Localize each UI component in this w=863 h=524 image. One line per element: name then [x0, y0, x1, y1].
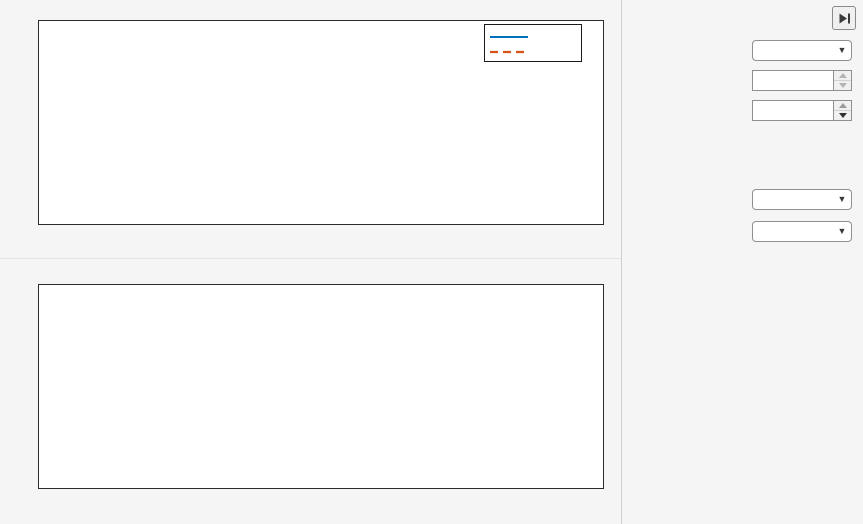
- option-row-time-steps: [623, 98, 863, 124]
- option-row-prediction-time: [623, 158, 863, 184]
- observation-increment-button[interactable]: [834, 71, 851, 81]
- prediction-viewer-app: ▼: [0, 0, 863, 524]
- option-row-response-feature: ▼: [623, 187, 863, 213]
- time-steps-input[interactable]: [752, 100, 833, 121]
- legend-row-response: [489, 28, 575, 43]
- arrow-down-icon: [839, 83, 847, 88]
- observation-decrement-button[interactable]: [834, 81, 851, 90]
- prediction-swatch: [489, 45, 529, 57]
- plots-column: [0, 0, 622, 524]
- collapse-panel-icon[interactable]: [832, 6, 856, 30]
- option-row-rmse: [623, 131, 863, 157]
- arrow-up-icon: [839, 103, 847, 108]
- legend-row-prediction: [489, 43, 575, 58]
- response-swatch: [489, 30, 529, 42]
- time-steps-decrement-button[interactable]: [834, 111, 851, 120]
- time-steps-stepper[interactable]: [752, 100, 852, 121]
- response-vs-prediction-panel: [0, 0, 621, 258]
- response-vs-prediction-menu-icon[interactable]: [566, 1, 592, 17]
- option-row-data-source: ▼: [623, 38, 863, 64]
- options-panel: ▼: [623, 0, 863, 524]
- observation-input[interactable]: [752, 70, 833, 91]
- observation-stepper-buttons: [833, 70, 852, 91]
- arrow-down-icon: [839, 113, 847, 118]
- chevron-down-icon: ▼: [833, 227, 851, 236]
- data-source-dropdown[interactable]: ▼: [752, 40, 852, 61]
- arrow-up-icon: [839, 73, 847, 78]
- time-steps-increment-button[interactable]: [834, 101, 851, 111]
- response-feature-dropdown[interactable]: ▼: [752, 189, 852, 210]
- bottom-chart-svg: [39, 285, 603, 488]
- predictor-data-panel: [0, 258, 621, 524]
- observation-stepper[interactable]: [752, 70, 852, 91]
- top-chart-legend: [484, 24, 582, 62]
- chevron-down-icon: ▼: [833, 195, 851, 204]
- skip-to-end-glyph: [838, 12, 851, 25]
- predictor-data-menu-icon[interactable]: [566, 267, 592, 283]
- predictor-feature-dropdown[interactable]: ▼: [752, 221, 852, 242]
- option-row-predictor-feature: ▼: [623, 219, 863, 245]
- predictor-data-axes[interactable]: [38, 284, 604, 489]
- chevron-down-icon: ▼: [833, 46, 851, 55]
- option-row-observation: [623, 68, 863, 94]
- time-steps-stepper-buttons: [833, 100, 852, 121]
